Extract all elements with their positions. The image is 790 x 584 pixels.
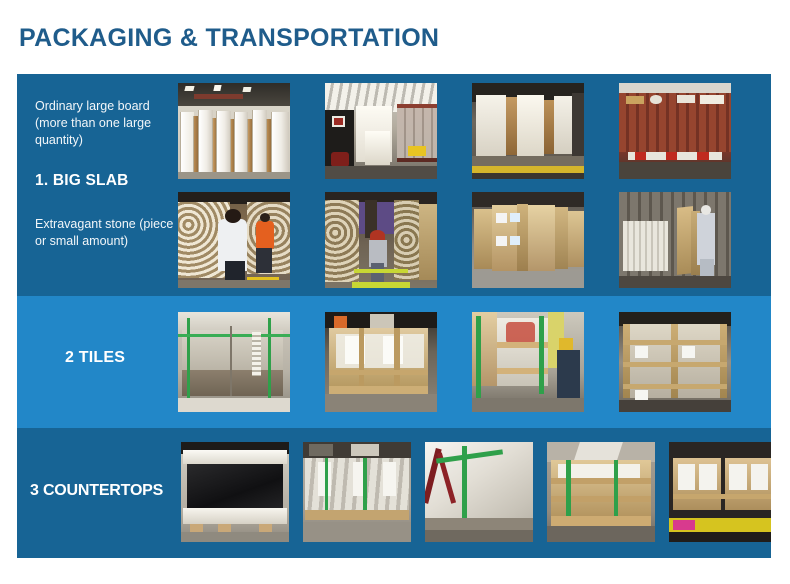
label-ordinary-large-board: Ordinary large board (more than one larg… [35,98,175,149]
photo-worker-between-slab-bundles [325,192,437,288]
photo-wooden-crates-with-green-straps [547,442,655,542]
label-extravagant-stone: Extravagant stone (piece or small amount… [35,216,175,250]
label-big-slab-heading: 1. BIG SLAB [35,172,180,190]
photo-warehouse-white-slabs [178,83,290,179]
photo-worker-loading-crate-in-container [619,192,731,288]
photo-grey-countertops-strapped [303,442,411,542]
label-countertops-heading: 3 COUNTERTOPS [30,482,205,500]
photo-container-loaded-with-crates [619,312,731,412]
photo-wrapped-bundle-with-straps [425,442,533,542]
page-title: PACKAGING & TRANSPORTATION [19,24,439,53]
photo-strapped-tile-bundle [178,312,290,412]
photo-slabs-inside-container [472,83,584,179]
photo-crate-being-moved-by-forklift [472,312,584,412]
photo-workers-handling-granite-slab [178,192,290,288]
photo-countertop-crates-in-container [669,442,771,542]
label-tiles-heading: 2 TILES [65,349,195,367]
photo-wooden-crates-with-labels [472,192,584,288]
photo-wooden-crate-on-pallet [325,312,437,412]
photo-black-countertop-on-pallet [181,442,289,542]
photo-red-container-rear-doors [619,83,731,179]
packaging-panel: Ordinary large board (more than one larg… [17,74,771,558]
photo-loading-slabs-into-truck [325,83,437,179]
